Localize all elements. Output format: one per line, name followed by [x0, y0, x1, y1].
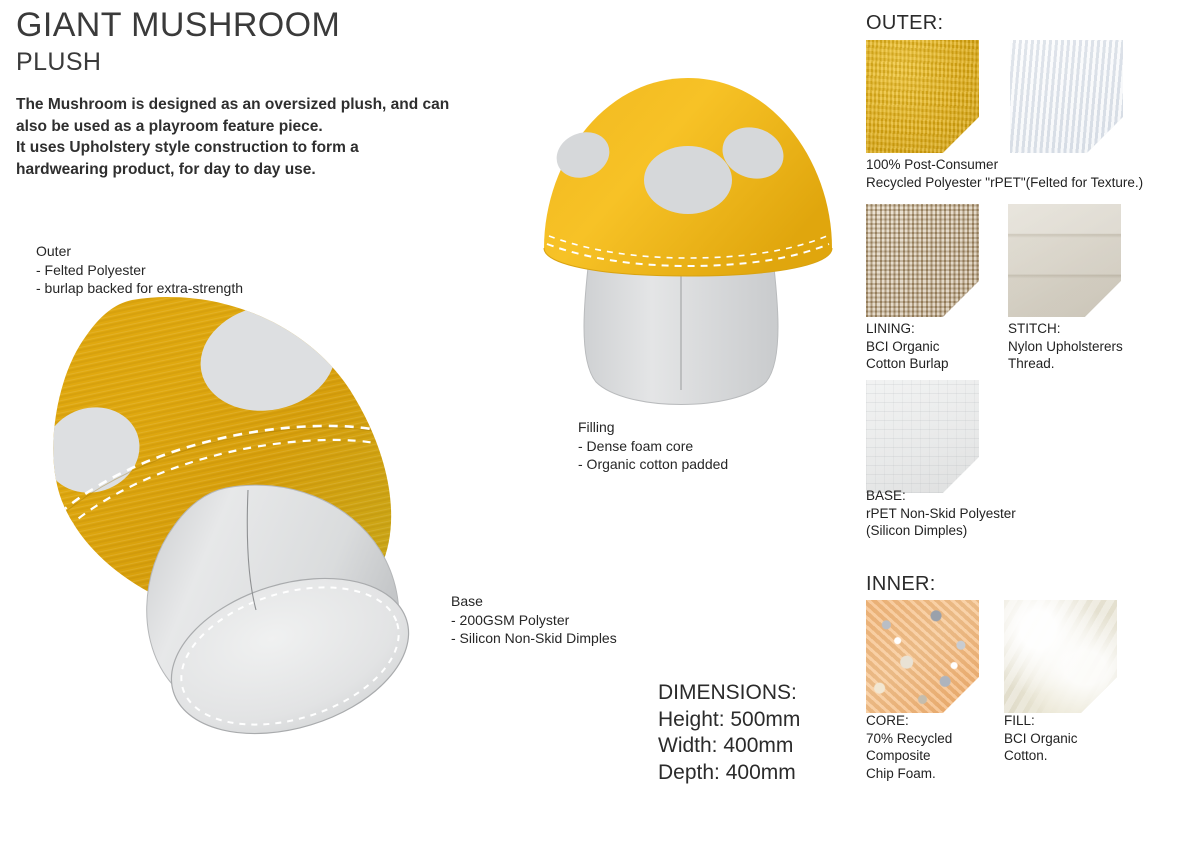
caption-core-label: CORE:: [866, 712, 952, 730]
annotation-filling: Filling - Dense foam core - Organic cott…: [578, 418, 728, 474]
swatch-base-nonskid: [866, 380, 979, 493]
caption-base-line1: rPET Non-Skid Polyester: [866, 505, 1016, 523]
dimension-width: Width: 400mm: [658, 733, 800, 760]
intro-line: The Mushroom is designed as an oversized…: [16, 94, 516, 116]
caption-core-line2: Composite: [866, 747, 952, 765]
intro-line: It uses Upholstery style construction to…: [16, 137, 516, 159]
dimension-depth: Depth: 400mm: [658, 760, 800, 787]
caption-outer-line1: 100% Post-Consumer: [866, 156, 1143, 174]
swatch-chip-foam-core: [866, 600, 979, 713]
annotation-outer-heading: Outer: [36, 242, 243, 261]
mushroom-angled-render: [20, 280, 490, 760]
caption-lining: LINING: BCI Organic Cotton Burlap: [866, 320, 949, 373]
felt-yellow-texture: [866, 40, 979, 153]
caption-fill-label: FILL:: [1004, 712, 1078, 730]
annotation-filling-line: - Dense foam core: [578, 437, 728, 456]
intro-line: hardwearing product, for day to day use.: [16, 159, 516, 181]
caption-core-line3: Chip Foam.: [866, 765, 952, 783]
caption-lining-line2: Cotton Burlap: [866, 355, 949, 373]
mushroom-cap: [544, 78, 832, 276]
dimensions-title: DIMENSIONS:: [658, 680, 800, 707]
caption-stitch: STITCH: Nylon Upholsterers Thread.: [1008, 320, 1123, 373]
page-title: GIANT MUSHROOM: [16, 6, 340, 45]
caption-lining-label: LINING:: [866, 320, 949, 338]
intro-paragraph: The Mushroom is designed as an oversized…: [16, 94, 516, 180]
caption-stitch-line2: Thread.: [1008, 355, 1123, 373]
cotton-fill-texture: [1004, 600, 1117, 713]
cap-spot-center: [644, 146, 732, 214]
felt-white-texture: [1010, 40, 1123, 153]
mushroom-front-render: [540, 60, 840, 420]
swatch-burlap-lining: [866, 204, 979, 317]
caption-base: BASE: rPET Non-Skid Polyester (Silicon D…: [866, 487, 1016, 540]
caption-fill-line1: BCI Organic: [1004, 730, 1078, 748]
annotation-outer-line: - Felted Polyester: [36, 261, 243, 280]
caption-core-line1: 70% Recycled: [866, 730, 952, 748]
annotation-filling-line: - Organic cotton padded: [578, 455, 728, 474]
nonskid-dimple-texture: [866, 380, 979, 493]
swatch-rpet-white: [1010, 40, 1123, 153]
swatch-nylon-thread: [1008, 204, 1121, 317]
caption-base-label: BASE:: [866, 487, 1016, 505]
caption-stitch-line1: Nylon Upholsterers: [1008, 338, 1123, 356]
caption-base-line2: (Silicon Dimples): [866, 522, 1016, 540]
annotation-filling-heading: Filling: [578, 418, 728, 437]
outer-section-title: OUTER:: [866, 12, 943, 35]
caption-lining-line1: BCI Organic: [866, 338, 949, 356]
swatch-organic-cotton-fill: [1004, 600, 1117, 713]
caption-outer-material: 100% Post-Consumer Recycled Polyester "r…: [866, 156, 1143, 191]
dimensions-block: DIMENSIONS: Height: 500mm Width: 400mm D…: [658, 680, 800, 786]
burlap-texture: [866, 204, 979, 317]
dimension-height: Height: 500mm: [658, 707, 800, 734]
inner-section-title: INNER:: [866, 573, 936, 596]
caption-outer-line2: Recycled Polyester "rPET"(Felted for Tex…: [866, 174, 1143, 192]
caption-fill-line2: Cotton.: [1004, 747, 1078, 765]
intro-line: also be used as a playroom feature piece…: [16, 116, 516, 138]
page-subtitle: PLUSH: [16, 48, 101, 77]
swatch-rpet-yellow: [866, 40, 979, 153]
thread-texture: [1008, 204, 1121, 317]
caption-core: CORE: 70% Recycled Composite Chip Foam.: [866, 712, 952, 782]
caption-stitch-label: STITCH:: [1008, 320, 1123, 338]
chip-foam-texture: [866, 600, 979, 713]
caption-fill: FILL: BCI Organic Cotton.: [1004, 712, 1078, 765]
